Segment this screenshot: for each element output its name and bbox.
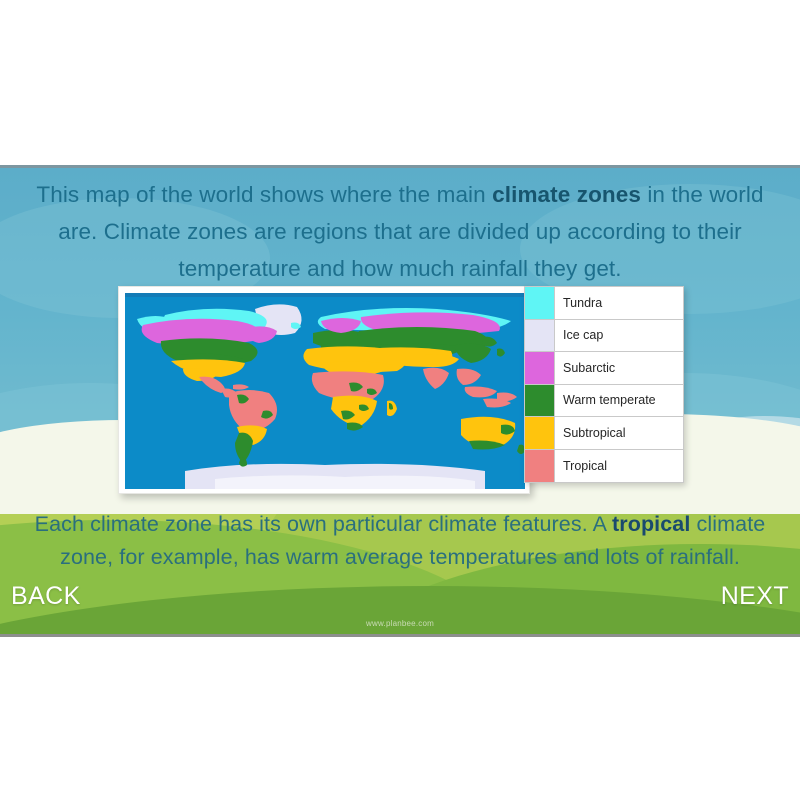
legend-item-tropical[interactable]: Tropical bbox=[525, 450, 683, 483]
outro-text-before: Each climate zone has its own particular… bbox=[35, 512, 612, 536]
back-button[interactable]: BACK bbox=[11, 582, 81, 611]
outro-paragraph: Each climate zone has its own particular… bbox=[18, 508, 782, 574]
legend-item-warm-temperate[interactable]: Warm temperate bbox=[525, 385, 683, 418]
world-map-canvas bbox=[125, 293, 525, 489]
legend-label: Subtropical bbox=[555, 417, 683, 449]
legend-label: Ice cap bbox=[555, 320, 683, 352]
legend-item-subarctic[interactable]: Subarctic bbox=[525, 352, 683, 385]
legend-swatch-subtropical bbox=[525, 417, 555, 449]
next-button[interactable]: NEXT bbox=[721, 582, 789, 611]
legend-label: Tundra bbox=[555, 287, 683, 319]
legend-item-tundra[interactable]: Tundra bbox=[525, 287, 683, 320]
slide-frame: This map of the world shows where the ma… bbox=[0, 165, 800, 637]
outro-text-bold: tropical bbox=[612, 512, 690, 536]
legend-label: Subarctic bbox=[555, 352, 683, 384]
legend-label: Tropical bbox=[555, 450, 683, 483]
intro-text-before: This map of the world shows where the ma… bbox=[36, 182, 492, 207]
intro-text-bold: climate zones bbox=[492, 182, 641, 207]
intro-paragraph: This map of the world shows where the ma… bbox=[18, 176, 782, 287]
legend-swatch-tundra bbox=[525, 287, 555, 319]
legend-item-ice-cap[interactable]: Ice cap bbox=[525, 320, 683, 353]
world-map-svg bbox=[125, 293, 525, 489]
legend-swatch-tropical bbox=[525, 450, 555, 483]
world-map-figure[interactable] bbox=[118, 286, 530, 494]
legend-swatch-ice-cap bbox=[525, 320, 555, 352]
watermark: www.planbee.com bbox=[0, 619, 800, 628]
map-legend: Tundra Ice cap Subarctic Warm temperate … bbox=[524, 286, 684, 483]
legend-item-subtropical[interactable]: Subtropical bbox=[525, 417, 683, 450]
legend-label: Warm temperate bbox=[555, 385, 683, 417]
legend-swatch-warm-temperate bbox=[525, 385, 555, 417]
legend-swatch-subarctic bbox=[525, 352, 555, 384]
